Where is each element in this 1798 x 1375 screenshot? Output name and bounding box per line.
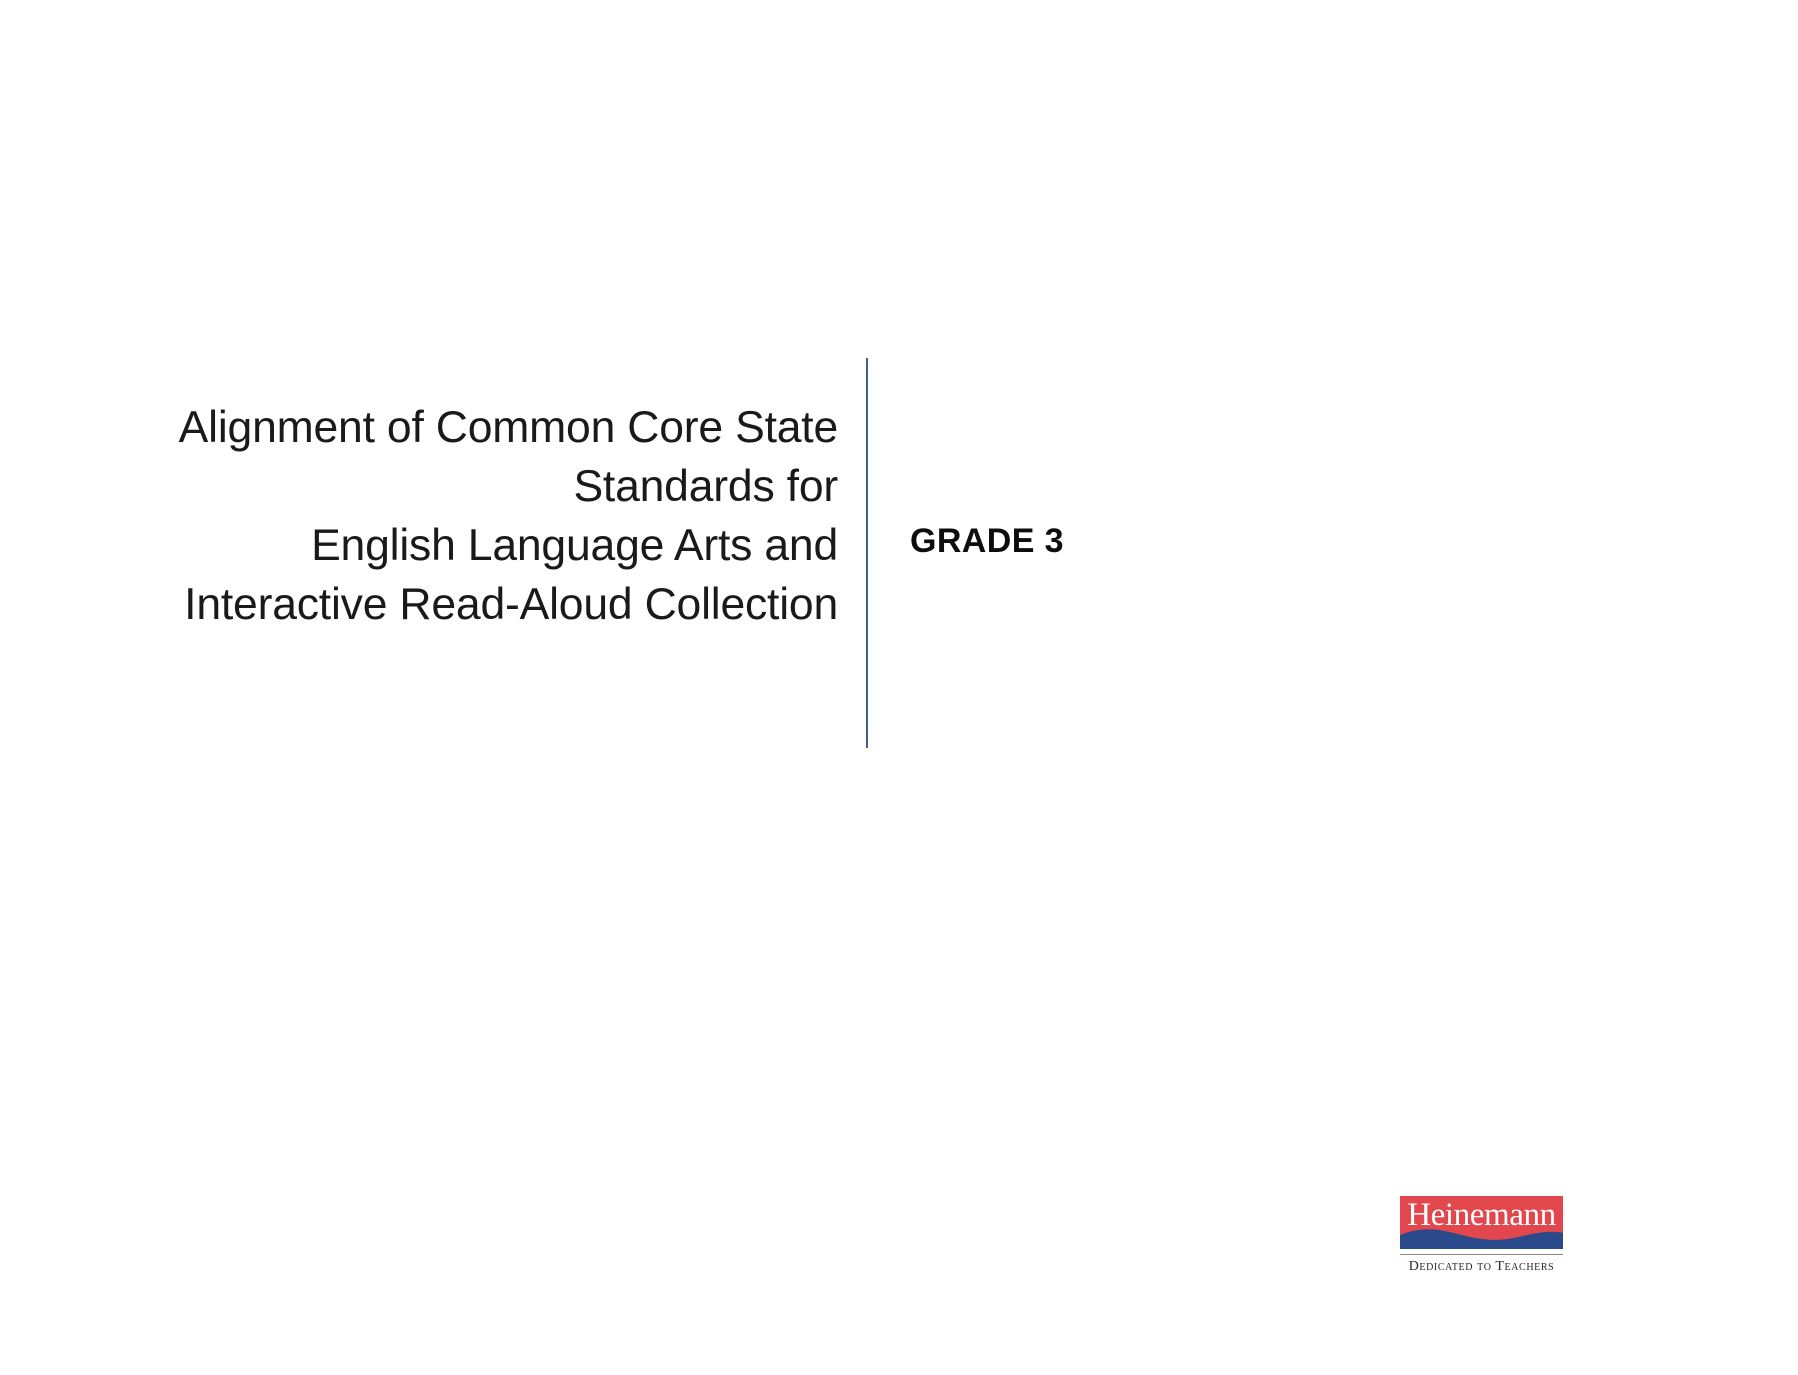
logo-wave-icon	[1400, 1227, 1563, 1249]
logo-mark: Heinemann	[1400, 1196, 1563, 1249]
vertical-divider	[866, 358, 868, 748]
presentation-slide: Alignment of Common Core State Standards…	[0, 0, 1798, 1375]
heinemann-logo: Heinemann Dedicated to Teachers	[1400, 1196, 1563, 1276]
grade-label: GRADE 3	[910, 522, 1064, 561]
title-line-3: English Language Arts and	[150, 516, 838, 575]
title-line-2: Standards for	[150, 457, 838, 516]
logo-divider-rule	[1400, 1254, 1563, 1255]
title-line-4: Interactive Read-Aloud Collection	[150, 575, 838, 634]
logo-tagline: Dedicated to Teachers	[1400, 1257, 1563, 1276]
title-line-1: Alignment of Common Core State	[150, 398, 838, 457]
slide-title: Alignment of Common Core State Standards…	[150, 398, 838, 634]
